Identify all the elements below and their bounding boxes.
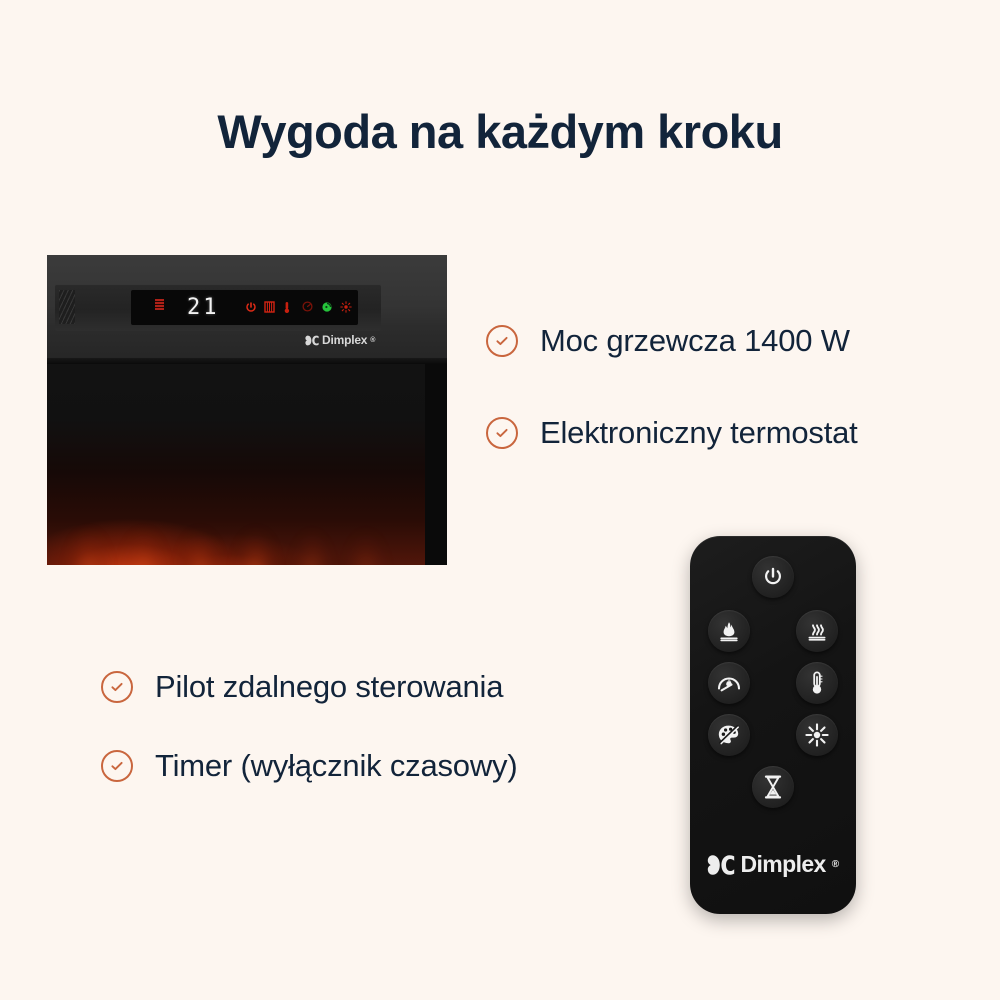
fireplace-product-image: 21	[47, 255, 447, 565]
fireplace-top-bezel: 21	[47, 255, 447, 361]
brightness-indicator	[340, 301, 352, 314]
feature-item-heating-power: Moc grzewcza 1400 W	[486, 323, 850, 359]
flame-icon	[717, 620, 741, 642]
fireplace-brand-logo: Dimplex®	[305, 333, 375, 347]
flame-plume	[285, 465, 339, 565]
flame-color-button[interactable]	[708, 714, 750, 756]
flame-color-indicator	[321, 301, 333, 314]
fireplace-brand-name: Dimplex	[322, 333, 367, 347]
heater-indicator	[264, 301, 276, 314]
flame-plume	[339, 465, 393, 565]
power-button[interactable]	[752, 556, 794, 598]
dimplex-mark-icon	[305, 335, 319, 346]
check-circle-icon	[486, 417, 518, 449]
feature-label: Timer (wyłącznik czasowy)	[155, 748, 517, 784]
remote-brand-name: Dimplex	[740, 851, 825, 878]
vent-grille-icon	[59, 290, 75, 324]
dimplex-mark-icon	[707, 854, 735, 876]
check-circle-icon	[101, 671, 133, 703]
heater-button[interactable]	[796, 610, 838, 652]
hourglass-icon	[763, 775, 783, 799]
flame-plume	[173, 465, 227, 565]
feature-label: Pilot zdalnego sterowania	[155, 669, 503, 705]
thermometer-indicator	[283, 301, 295, 314]
page-title: Wygoda na każdym kroku	[0, 104, 1000, 159]
display-indicator-row	[239, 290, 358, 325]
flame-speed-indicator	[302, 301, 314, 314]
flame-speed-gauge-icon	[716, 672, 742, 694]
feature-label: Moc grzewcza 1400 W	[540, 323, 850, 359]
heat-level-indicator	[155, 299, 164, 310]
flame-plume	[229, 465, 283, 565]
feature-item-timer: Timer (wyłącznik czasowy)	[101, 748, 517, 784]
feature-item-remote-control: Pilot zdalnego sterowania	[101, 669, 503, 705]
power-indicator	[245, 301, 257, 314]
check-circle-icon	[101, 750, 133, 782]
thermostat-button[interactable]	[796, 662, 838, 704]
brightness-button[interactable]	[796, 714, 838, 756]
flame-button[interactable]	[708, 610, 750, 652]
fireplace-control-recess: 21	[55, 284, 381, 331]
feature-label: Elektroniczny termostat	[540, 415, 858, 451]
flame-plume	[117, 465, 171, 565]
power-icon	[762, 566, 784, 588]
flame-plume	[61, 465, 115, 565]
timer-button[interactable]	[752, 766, 794, 808]
fireplace-bezel-shadow	[47, 358, 447, 364]
fireplace-flame-area	[47, 363, 425, 565]
display-temperature: 21	[187, 294, 220, 321]
thermometer-icon	[810, 671, 824, 695]
fireplace-right-edge	[425, 363, 447, 565]
feature-item-electronic-thermostat: Elektroniczny termostat	[486, 415, 858, 451]
heater-waves-icon	[805, 620, 829, 642]
promo-page: Wygoda na każdym kroku 21	[0, 0, 1000, 1000]
fireplace-display-panel: 21	[131, 290, 358, 325]
paint-palette-icon	[717, 724, 741, 746]
brightness-sun-icon	[805, 723, 829, 747]
remote-control: Dimplex®	[690, 536, 856, 914]
remote-brand-logo: Dimplex®	[690, 851, 856, 878]
fireplace-brand-trademark: ®	[370, 337, 375, 344]
flame-speed-button[interactable]	[708, 662, 750, 704]
check-circle-icon	[486, 325, 518, 357]
remote-brand-trademark: ®	[832, 859, 839, 870]
